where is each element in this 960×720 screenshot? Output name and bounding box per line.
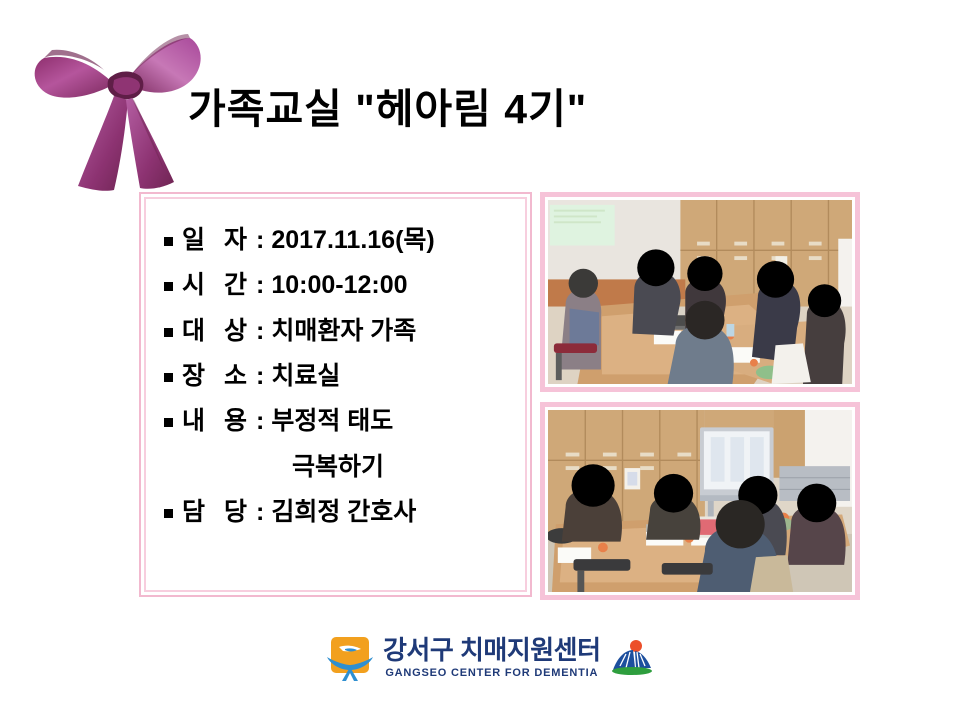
gangseo-person-logo-icon — [325, 635, 375, 681]
photo-frame-bottom — [540, 402, 860, 600]
list-item: 시 간 : 10:00-12:00 — [164, 270, 525, 301]
logo-name-en: GANGSEO CENTER FOR DEMENTIA — [383, 667, 601, 679]
info-label: 장 소 — [182, 361, 256, 392]
info-colon: : — [256, 497, 264, 528]
list-item: 대 상 : 치매환자 가족 — [164, 316, 525, 347]
bullet-square-icon — [164, 418, 173, 427]
bullet-square-icon — [164, 373, 173, 382]
info-value: 부정적 태도 — [271, 406, 393, 437]
bullet-square-icon — [164, 282, 173, 291]
list-item: 내 용 : 부정적 태도 — [164, 406, 525, 437]
info-colon: : — [256, 361, 264, 392]
list-item: 일 자 : 2017.11.16(목) — [164, 225, 525, 256]
info-value: 치료실 — [271, 361, 340, 392]
logo-name-ko: 강서구 치매지원센터 — [383, 637, 601, 664]
info-value: 2017.11.16(목) — [271, 225, 434, 256]
info-label: 시 간 — [182, 270, 256, 301]
photo-group-meeting-projector — [548, 200, 852, 384]
info-label: 대 상 — [182, 316, 256, 347]
info-label: 일 자 — [182, 225, 256, 256]
info-value: 치매환자 가족 — [271, 316, 416, 347]
logo-text-wrap: 강서구 치매지원센터 GANGSEO CENTER FOR DEMENTIA — [383, 637, 601, 678]
info-value: 김희정 간호사 — [271, 497, 416, 528]
photo-frame-top — [540, 192, 860, 392]
footer-logo: 강서구 치매지원센터 GANGSEO CENTER FOR DEMENTIA — [325, 630, 660, 686]
poster-canvas: 가족교실 "헤아림 4기" 일 자 : 2017.11.16(목) 시 간 : … — [0, 0, 960, 720]
info-box: 일 자 : 2017.11.16(목) 시 간 : 10:00-12:00 대 … — [139, 192, 532, 597]
info-colon: : — [256, 225, 264, 256]
info-value-continuation: 극복하기 — [292, 447, 525, 483]
gangseo-district-emblem-icon — [609, 638, 655, 678]
info-colon: : — [256, 270, 264, 301]
info-colon: : — [256, 316, 264, 347]
bullet-square-icon — [164, 237, 173, 246]
info-value: 10:00-12:00 — [271, 270, 407, 301]
info-colon: : — [256, 406, 264, 437]
list-item: 장 소 : 치료실 — [164, 361, 525, 392]
photo-group-meeting-whiteboard — [548, 410, 852, 592]
page-title: 가족교실 "헤아림 4기" — [188, 86, 587, 133]
bullet-square-icon — [164, 509, 173, 518]
bullet-square-icon — [164, 328, 173, 337]
list-item: 담 당 : 김희정 간호사 — [164, 497, 525, 528]
info-box-inner: 일 자 : 2017.11.16(목) 시 간 : 10:00-12:00 대 … — [144, 197, 527, 592]
info-list: 일 자 : 2017.11.16(목) 시 간 : 10:00-12:00 대 … — [164, 225, 525, 529]
info-label: 담 당 — [182, 497, 256, 528]
info-label: 내 용 — [182, 406, 256, 437]
